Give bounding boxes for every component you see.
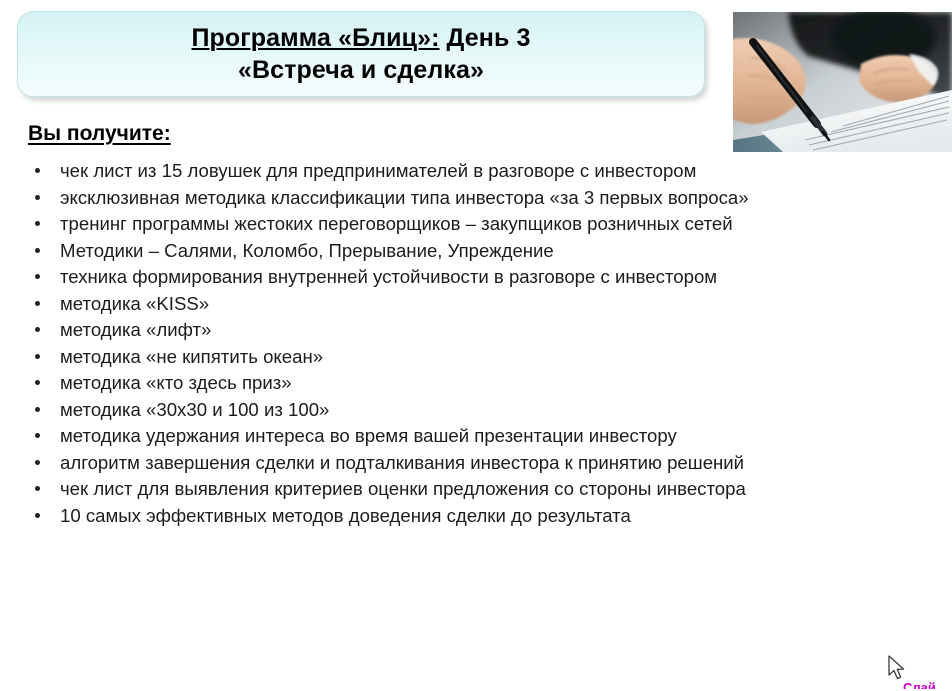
bullet-dot-icon [35, 433, 40, 438]
list-item-label: методика «лифт» [60, 319, 211, 340]
page-title: Вы получите: [28, 122, 171, 146]
list-item: методика «30х30 и 100 из 100» [26, 397, 932, 424]
slide-canvas: Программа «Блиц»: День 3 «Встреча и сдел… [0, 0, 952, 691]
bullet-dot-icon [35, 195, 40, 200]
list-item: Методики – Салями, Коломбо, Прерывание, … [26, 238, 932, 265]
bullet-dot-icon [35, 354, 40, 359]
title-plain-part: День 3 [440, 24, 531, 52]
list-item-label: методика «не кипятить океан» [60, 346, 323, 367]
footer-marker-label: Слай [903, 680, 936, 689]
benefits-list: чек лист из 15 ловушек для предпринимате… [26, 158, 932, 529]
list-item-label: чек лист из 15 ловушек для предпринимате… [60, 160, 696, 181]
list-item: методика «KISS» [26, 291, 932, 318]
title-line-1: Программа «Блиц»: День 3 [191, 22, 530, 55]
list-item-label: чек лист для выявления критериев оценки … [60, 478, 746, 499]
list-item-label: алгоритм завершения сделки и подталкиван… [60, 452, 744, 473]
bullet-dot-icon [35, 380, 40, 385]
bullet-dot-icon [35, 168, 40, 173]
bullet-dot-icon [35, 486, 40, 491]
list-item: методика «лифт» [26, 317, 932, 344]
title-box: Программа «Блиц»: День 3 «Встреча и сдел… [17, 11, 705, 97]
list-item-label: методика «30х30 и 100 из 100» [60, 399, 329, 420]
list-item: методика «не кипятить океан» [26, 344, 932, 371]
list-item: техника формирования внутренней устойчив… [26, 264, 932, 291]
list-item: тренинг программы жестоких переговорщико… [26, 211, 932, 238]
bullet-dot-icon [35, 407, 40, 412]
list-item-label: методика удержания интереса во время ваш… [60, 425, 677, 446]
bullet-dot-icon [35, 513, 40, 518]
title-underlined-part: Программа «Блиц»: [191, 24, 439, 52]
list-item: 10 самых эффективных методов доведения с… [26, 503, 932, 530]
list-item: алгоритм завершения сделки и подталкиван… [26, 450, 932, 477]
list-item-label: тренинг программы жестоких переговорщико… [60, 213, 733, 234]
bullet-dot-icon [35, 274, 40, 279]
list-item: методика удержания интереса во время ваш… [26, 423, 932, 450]
bullet-dot-icon [35, 460, 40, 465]
bullet-dot-icon [35, 248, 40, 253]
list-item: эксклюзивная методика классификации типа… [26, 185, 932, 212]
list-item-label: Методики – Салями, Коломбо, Прерывание, … [60, 240, 554, 261]
list-item: чек лист для выявления критериев оценки … [26, 476, 932, 503]
list-item: методика «кто здесь приз» [26, 370, 932, 397]
footer-marker[interactable]: Слай [903, 679, 949, 689]
list-item-label: 10 самых эффективных методов доведения с… [60, 505, 631, 526]
bullet-dot-icon [35, 221, 40, 226]
title-line-2: «Встреча и сделка» [238, 54, 484, 87]
list-item-label: техника формирования внутренней устойчив… [60, 266, 717, 287]
list-item: чек лист из 15 ловушек для предпринимате… [26, 158, 932, 185]
bullet-dot-icon [35, 301, 40, 306]
signing-document-photo [733, 12, 952, 152]
list-item-label: эксклюзивная методика классификации типа… [60, 187, 749, 208]
list-item-label: методика «KISS» [60, 293, 209, 314]
bullet-dot-icon [35, 327, 40, 332]
list-item-label: методика «кто здесь приз» [60, 372, 292, 393]
